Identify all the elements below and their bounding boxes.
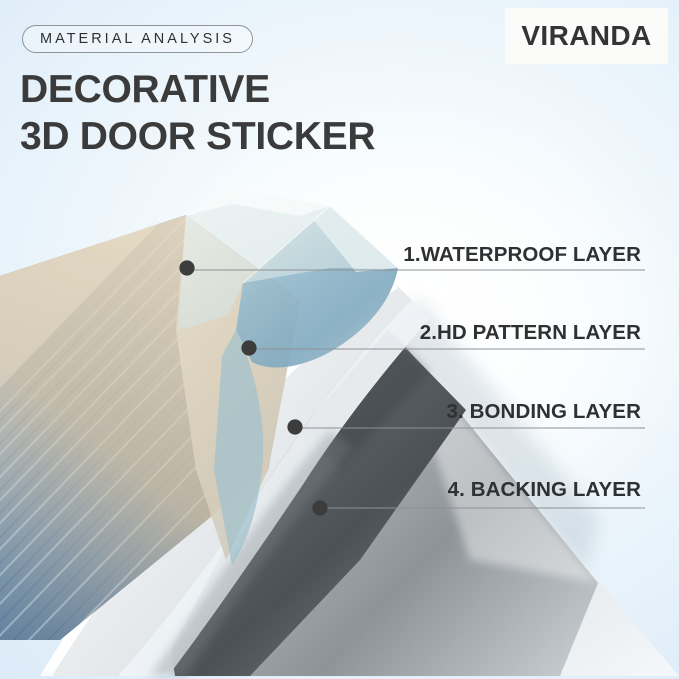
callout-label-3-text: 3. BONDING LAYER xyxy=(447,400,642,428)
callout-label-3: 3. BONDING LAYER xyxy=(447,400,642,428)
page-title-line1: DECORATIVE xyxy=(20,68,270,111)
page-title-line2: 3D DOOR STICKER xyxy=(20,113,375,160)
material-analysis-badge: MATERIAL ANALYSIS xyxy=(22,25,253,53)
callout-label-4-text: 4. BACKING LAYER xyxy=(448,478,641,506)
callout-dot-1 xyxy=(179,260,194,275)
brand-logo: VIRANDA xyxy=(505,8,668,64)
badge-label: MATERIAL ANALYSIS xyxy=(40,31,235,47)
callout-label-1-text: 1.WATERPROOF LAYER xyxy=(403,243,641,271)
callout-dot-3 xyxy=(287,419,302,434)
callout-label-4: 4. BACKING LAYER xyxy=(448,478,641,506)
callout-label-1: 1.WATERPROOF LAYER xyxy=(403,243,641,271)
infographic-page: MATERIAL ANALYSIS DECORATIVE 3D DOOR STI… xyxy=(0,0,679,679)
callout-label-2-text: 2.HD PATTERN LAYER xyxy=(420,321,641,349)
callout-dot-4 xyxy=(312,500,327,515)
callout-label-2: 2.HD PATTERN LAYER xyxy=(420,321,641,349)
brand-logo-text: VIRANDA xyxy=(521,20,651,52)
callout-dot-2 xyxy=(241,340,256,355)
page-title: DECORATIVE 3D DOOR STICKER xyxy=(20,66,375,160)
